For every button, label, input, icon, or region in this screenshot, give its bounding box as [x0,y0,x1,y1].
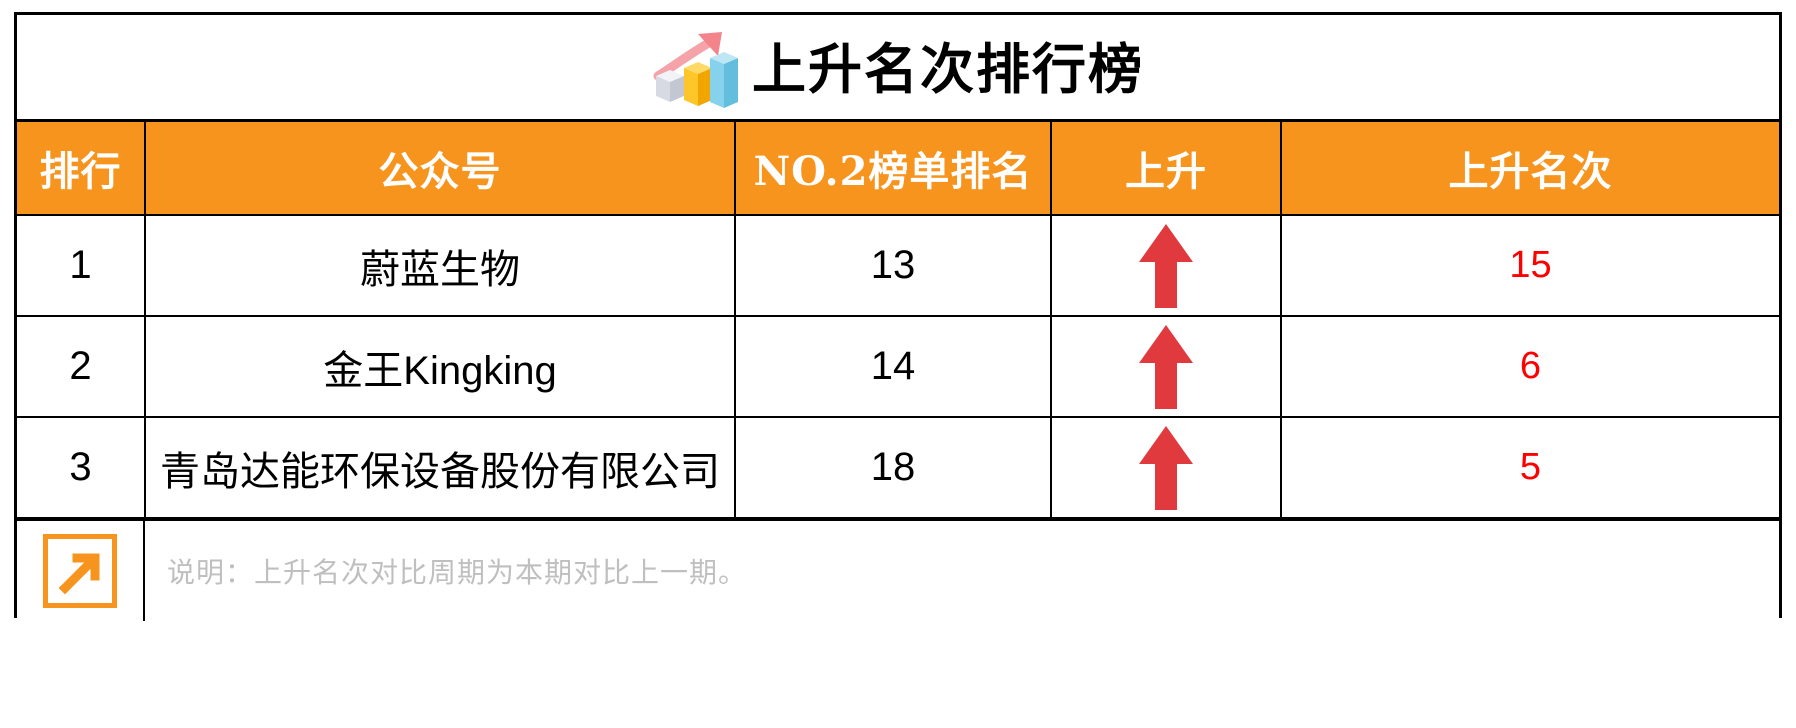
column-header-no2: NO.2榜单排名 [735,122,1051,215]
cell-no2: 14 [735,316,1051,417]
up-arrow-icon [1139,426,1193,510]
cell-no2: 18 [735,417,1051,518]
column-header-delta: 上升名次 [1281,122,1779,215]
footer-icon-cell [17,521,145,621]
footer-note-row: 说明：上升名次对比周期为本期对比上一期。 [17,519,1779,621]
table-header-row: 排行 公众号 NO.2榜单排名 上升 上升名次 [17,122,1779,215]
cell-name: 青岛达能环保设备股份有限公司 [145,417,735,518]
cell-name: 蔚蓝生物 [145,215,735,316]
cell-no2: 13 [735,215,1051,316]
cell-delta: 15 [1281,215,1779,316]
up-arrow-shaft [1155,355,1177,409]
up-arrow-icon [1139,224,1193,308]
rising-arrow-box-icon [43,534,117,608]
cell-delta: 6 [1281,316,1779,417]
cell-rank: 1 [17,215,145,316]
ranking-table: 排行 公众号 NO.2榜单排名 上升 上升名次 1 蔚蓝生物 13 [17,122,1779,519]
column-header-name: 公众号 [145,122,735,215]
page-title: 上升名次排行榜 [752,42,1144,96]
table-row: 1 蔚蓝生物 13 15 [17,215,1779,316]
column-header-up: 上升 [1051,122,1281,215]
table-row: 3 青岛达能环保设备股份有限公司 18 5 [17,417,1779,518]
footer-text-cell: 说明：上升名次对比周期为本期对比上一期。 [145,521,1779,621]
ranking-board: 上升名次排行榜 排行 公众号 NO.2榜单排名 上升 上升名次 1 [14,12,1782,618]
up-arrow-shaft [1155,254,1177,308]
cell-name: 金王Kingking [145,316,735,417]
table-row: 2 金王Kingking 14 6 [17,316,1779,417]
cell-delta: 5 [1281,417,1779,518]
ranking-board-page: 上升名次排行榜 排行 公众号 NO.2榜单排名 上升 上升名次 1 [0,0,1796,728]
column-header-rank: 排行 [17,122,145,215]
board-title-inner: 上升名次排行榜 [652,30,1144,108]
footer-note-text: 说明：上升名次对比周期为本期对比上一期。 [167,551,747,591]
cell-up [1051,417,1281,518]
table-body: 1 蔚蓝生物 13 15 2 金王Kingking 14 [17,215,1779,518]
cell-up [1051,316,1281,417]
up-arrow-shaft [1155,456,1177,510]
bar-chart-rising-icon [652,30,738,108]
cell-rank: 3 [17,417,145,518]
up-arrow-icon [1139,325,1193,409]
table-header: 排行 公众号 NO.2榜单排名 上升 上升名次 [17,122,1779,215]
board-title-row: 上升名次排行榜 [17,15,1779,122]
cell-rank: 2 [17,316,145,417]
cell-up [1051,215,1281,316]
